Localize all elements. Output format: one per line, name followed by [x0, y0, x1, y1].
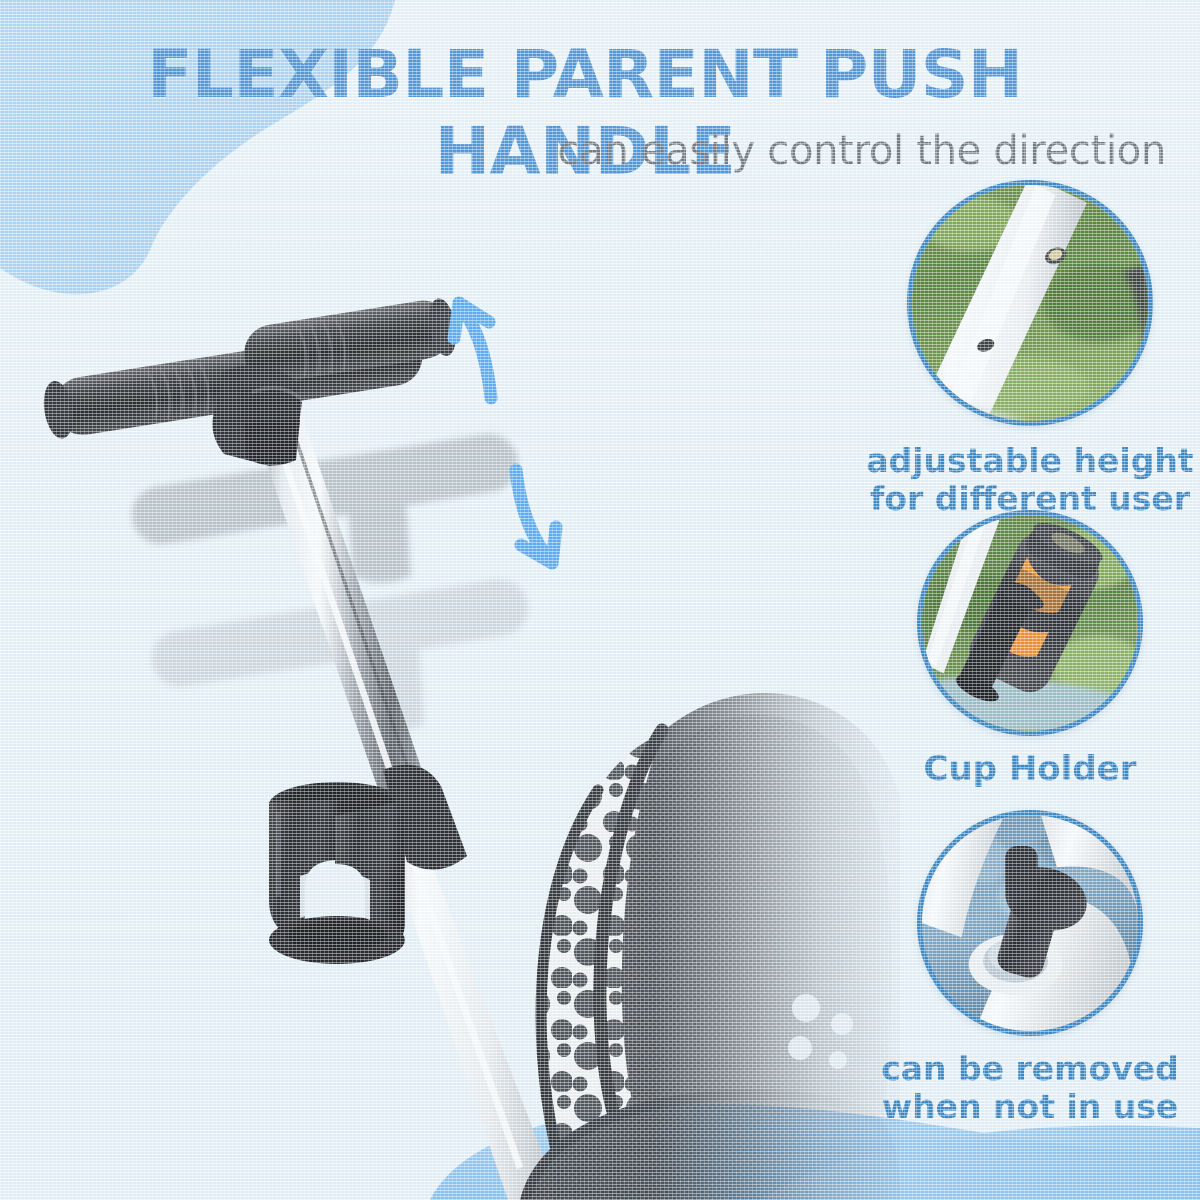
- infographic-canvas: FLEXIBLE PARENT PUSH HANDLE can easily c…: [0, 0, 1200, 1200]
- caption-line-1: Cup Holder: [860, 750, 1200, 789]
- cup-holder-photo: [917, 510, 1143, 736]
- caption-line-2: when not in use: [860, 1088, 1200, 1126]
- callout-caption: Cup Holder: [860, 750, 1200, 789]
- callout-adjustable-height: adjustable height for different user: [860, 180, 1200, 517]
- t-bar-handle: [40, 296, 460, 466]
- adjustable-height-photo: [907, 180, 1153, 426]
- stroller-seat-back: [520, 693, 900, 1200]
- callout-removable-knob: can be removed when not in use: [860, 810, 1200, 1125]
- caption-line-1: adjustable height: [860, 442, 1200, 480]
- removable-knob-photo: [917, 810, 1143, 1036]
- callout-cup-holder: Cup Holder: [860, 510, 1200, 789]
- callout-caption: adjustable height for different user: [860, 442, 1200, 517]
- page-subtitle: can easily control the direction: [557, 128, 1166, 174]
- arrow-down-icon: [516, 470, 556, 563]
- motion-arrows: [454, 303, 556, 563]
- arrow-up-icon: [454, 303, 491, 398]
- caption-line-1: can be removed: [860, 1050, 1200, 1088]
- callout-caption: can be removed when not in use: [860, 1050, 1200, 1125]
